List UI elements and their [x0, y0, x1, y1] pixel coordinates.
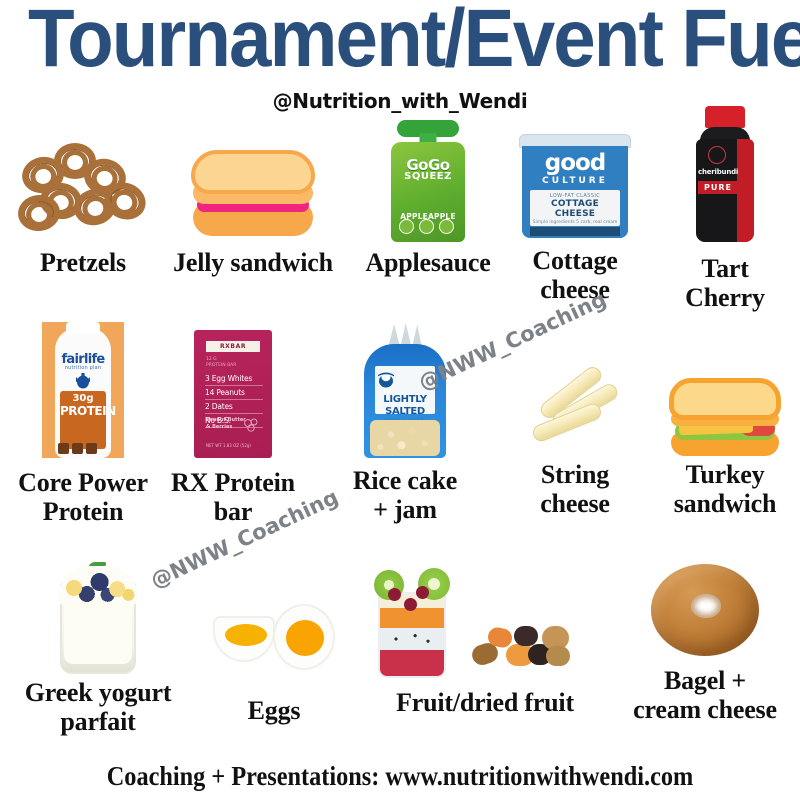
pretzels-icon: [18, 128, 148, 238]
food-item-bagel: Bagel + cream cheese: [610, 548, 800, 724]
ricebag-variant-line2: SALTED: [375, 406, 435, 417]
fruit-cup-icon: [360, 558, 610, 684]
yogurt-parfait-icon: [52, 552, 144, 674]
rxbar-brand: RXBAR: [206, 341, 260, 352]
food-item-tart-cherry: cheribundi PURE Tart Cherry: [650, 110, 800, 312]
tub-panel-sub: Simple ingredients 5 carb, real cream: [530, 220, 620, 225]
ricebag-variant-line1: LIGHTLY: [375, 394, 435, 405]
food-label: Tart Cherry: [685, 254, 765, 312]
food-item-cottage-cheese: good CULTURE LOW-FAT CLASSIC COTTAGE CHE…: [500, 128, 650, 304]
page-title: Tournament/Event Fuel: [28, 0, 772, 82]
bottle-variant: PURE: [698, 181, 738, 194]
string-cheese-icon: [515, 330, 635, 458]
tub-brand: good: [519, 152, 631, 175]
food-item-rice-cakes: LIGHTLY SALTED RICE CAKES Rice cake + ja…: [320, 316, 490, 524]
food-label: RX Protein bar: [171, 468, 295, 526]
tub-panel-main: COTTAGE CHEESE: [530, 199, 620, 219]
shake-protein-label: PROTEIN: [60, 404, 106, 418]
rxbar-ingredient: 3 Egg Whites: [205, 372, 263, 386]
food-label: String cheese: [540, 460, 610, 518]
rxbar-ingredient: 2 Dates: [205, 400, 263, 414]
rxbar-subtext: 12 G PROTEIN BAR: [206, 357, 236, 369]
rice-cakes-bag-icon: LIGHTLY SALTED RICE CAKES: [362, 316, 448, 458]
rxbar-flavor: Peanut Butter & Berries: [206, 417, 246, 431]
food-label: Rice cake + jam: [353, 466, 457, 524]
food-label: Eggs: [248, 696, 301, 725]
food-label: Fruit/dried fruit: [396, 688, 574, 717]
dried-fruit-icon: [470, 614, 574, 676]
footer-contact: Coaching + Presentations: www.nutritionw…: [40, 761, 760, 792]
food-item-yogurt-parfait: Greek yogurt parfait: [8, 552, 188, 736]
rxbar-weight: NET WT 1.83 OZ (52g): [206, 443, 251, 448]
food-label: Turkey sandwich: [674, 460, 776, 518]
bottle-brand: cheribundi: [698, 168, 738, 176]
applesauce-pouch-icon: GoGo SQUEEZ APPLEAPPLE: [385, 116, 471, 242]
food-label: Bagel + cream cheese: [633, 666, 777, 724]
food-label: Applesauce: [365, 248, 490, 277]
poster-canvas: Tournament/Event Fuel @Nutrition_with_We…: [0, 0, 800, 800]
shake-protein-grams: 30g: [60, 393, 106, 404]
food-label: Core Power Protein: [18, 468, 148, 526]
jelly-sandwich-icon: [189, 128, 317, 238]
pouch-brand-line2: SQUEEZ: [385, 171, 471, 182]
food-item-jelly-sandwich: Jelly sandwich: [158, 128, 348, 277]
cow-icon: [73, 372, 93, 389]
food-item-turkey-sandwich: Turkey sandwich: [650, 330, 800, 518]
boiled-eggs-icon: [213, 588, 335, 680]
quaker-man-icon: [375, 369, 397, 388]
tub-brand-sub: CULTURE: [519, 176, 631, 186]
bagel-icon: [649, 548, 761, 660]
food-item-fruit: Fruit/dried fruit: [360, 558, 610, 717]
protein-shake-bottle-icon: fairlife nutrition plan 30g PROTEIN: [42, 318, 124, 458]
food-item-pretzels: Pretzels: [8, 128, 158, 277]
turkey-sandwich-icon: [665, 330, 785, 458]
food-item-eggs: Eggs: [188, 588, 360, 725]
peanut-icon: [243, 418, 261, 432]
rxbar-ingredient: 14 Peanuts: [205, 386, 263, 400]
food-item-core-power: fairlife nutrition plan 30g PROTEIN Core…: [8, 318, 158, 526]
protein-bar-icon: RXBAR 12 G PROTEIN BAR 3 Egg Whites 14 P…: [194, 322, 272, 458]
food-item-rx-bar: RXBAR 12 G PROTEIN BAR 3 Egg Whites 14 P…: [158, 322, 308, 526]
food-label: Cottage cheese: [532, 246, 617, 304]
food-label: Greek yogurt parfait: [25, 678, 172, 736]
tart-cherry-bottle-icon: cheribundi PURE: [694, 110, 756, 242]
food-label: Jelly sandwich: [173, 248, 333, 277]
cottage-cheese-tub-icon: good CULTURE LOW-FAT CLASSIC COTTAGE CHE…: [519, 128, 631, 238]
food-item-applesauce: GoGo SQUEEZ APPLEAPPLE Applesauce: [348, 116, 508, 277]
food-label: Pretzels: [40, 248, 126, 277]
shake-brand-sub: nutrition plan: [55, 365, 111, 371]
food-item-string-cheese: String cheese: [500, 330, 650, 518]
